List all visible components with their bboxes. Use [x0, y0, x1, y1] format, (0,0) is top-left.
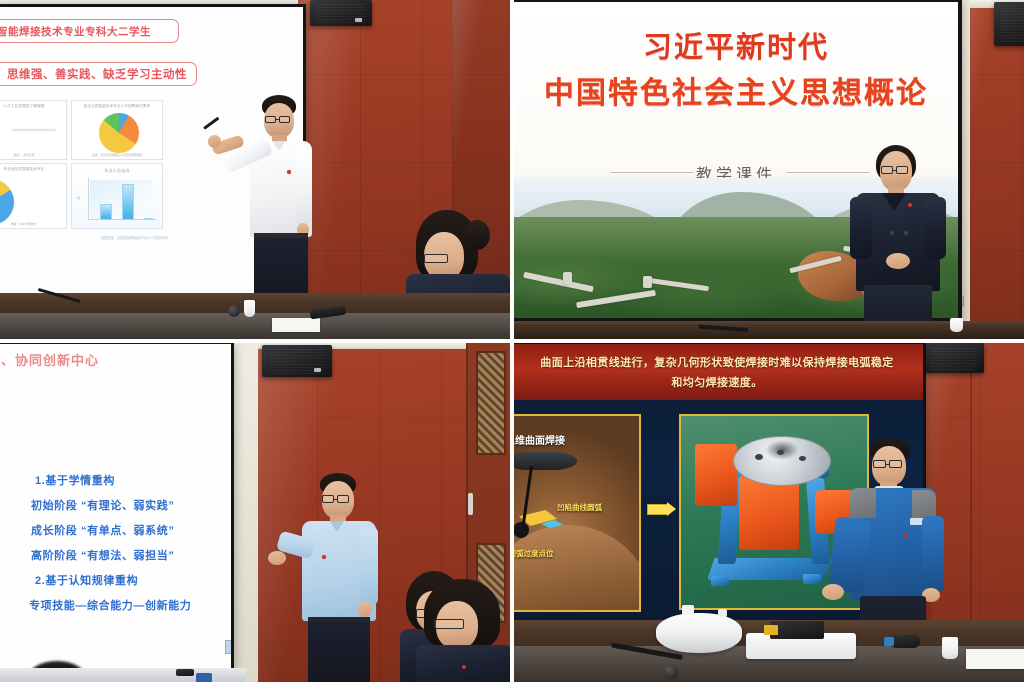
- bar-chart-trendline: [90, 180, 152, 218]
- slide4-photo-left: 三维曲面焊接 凹陷曲线圆弧 曲面弧过度点位: [514, 414, 641, 612]
- slide1-card-4: 毕业人员去向 人数: [71, 163, 163, 229]
- slide2-title-line2: 中国特色社会主义思想概论: [514, 68, 958, 112]
- presenter2-lapel-badge: [908, 203, 912, 207]
- panel-bottom-right[interactable]: 曲面上沿相贯线进行，复杂几何形状致使焊接时难以保持焊接电弧稳定 和均匀焊接速度。…: [514, 343, 1024, 682]
- presenter3-hand-right: [358, 601, 372, 617]
- presenter2-glasses-right: [896, 166, 908, 174]
- presenter3-hand-gesture: [268, 551, 286, 565]
- observer3b-top: [416, 645, 510, 682]
- slide1-card-2: 各企业的智能技术专业人才招聘岗位需求 来源：某某省智能制造人才需求调研报告: [71, 100, 163, 160]
- presenter4-lapel-badge: [904, 534, 908, 538]
- panel-bottom-left[interactable]: 、协同创新中心 1.基于学情重构 初始阶段 “有理论、弱实践” 成长阶段 “有单…: [0, 343, 510, 682]
- ceiling-speaker-panel2: [994, 2, 1024, 46]
- slide4-banner: 曲面上沿相贯线进行，复杂几何形状致使焊接时难以保持焊接电弧稳定 和均匀焊接速度。: [514, 344, 923, 400]
- presenter2-button-2: [904, 231, 908, 235]
- slide1-bar-chart: [88, 178, 156, 220]
- slide4-annotation-1: 凹陷曲线圆弧: [557, 502, 602, 513]
- slide3-line-5: 2.基于认知规律重构: [35, 572, 225, 588]
- ceiling-speaker-panel3: [262, 345, 332, 377]
- slide2-title-line1: 习近平新时代: [514, 24, 958, 66]
- documents-panel1[interactable]: [272, 318, 320, 332]
- presenter2-button-1: [890, 231, 894, 235]
- presenter4-glasses-left: [873, 460, 886, 468]
- slide1-card-1: 人才工业发展的了解程度 数据 — 调查结果: [0, 100, 67, 160]
- great-wall-tower-2: [643, 276, 652, 288]
- door-lattice-glass-panel3: [476, 351, 506, 455]
- panel-top-right[interactable]: 习近平新时代 中国特色社会主义思想概论 教学课件: [514, 0, 1024, 339]
- slide4-banner-line1: 曲面上沿相贯线进行，复杂几何形状致使焊接时难以保持焊接电弧稳定: [540, 354, 893, 370]
- presenter4-arm-right: [922, 516, 944, 592]
- presenter3-glasses-right: [337, 495, 349, 503]
- pressure-vessel-model[interactable]: [656, 613, 742, 653]
- presenter3-glasses-left: [322, 495, 334, 503]
- slide1-callout-2: 弱、思维强、善实践、缺乏学习主动性: [0, 62, 197, 86]
- slide1-card-2-caption: 来源：某某省智能制造人才需求调研报告: [72, 153, 162, 157]
- photo-collage: 智能焊接技术专业专科大二学生 弱、思维强、善实践、缺乏学习主动性 人才工业发展的…: [0, 0, 1024, 682]
- slide3-header: 、协同创新中心: [1, 350, 99, 369]
- chuck-hole-3: [799, 456, 806, 461]
- arrow-head: [667, 502, 676, 516]
- chuck-hole-1: [755, 454, 763, 460]
- speaker-grille-panel4: [931, 346, 977, 370]
- presenter1-glasses-bridge: [276, 119, 279, 120]
- slide1-card-1-caption: 数据 — 调查结果: [0, 153, 66, 157]
- presenter2-glasses-left: [881, 166, 893, 174]
- presenter1-belt: [254, 233, 308, 238]
- presenter1-collar: [272, 141, 286, 151]
- great-wall-tower-1: [563, 272, 572, 284]
- table-glass-panel1: [0, 313, 510, 339]
- slide1-card-3-caption: 数据：2024年度统计: [0, 222, 66, 226]
- cup-panel2[interactable]: [950, 318, 963, 332]
- positioner-foot-left: [711, 576, 729, 586]
- marker-panel3[interactable]: [176, 669, 194, 676]
- paper-cup-panel1[interactable]: [244, 300, 255, 317]
- handheld-device-panel4[interactable]: [890, 635, 920, 648]
- presenter1-lowered-arm: [296, 149, 312, 225]
- presenter3-collar: [330, 521, 344, 532]
- paper-cup-panel4[interactable]: [942, 637, 958, 659]
- slide4-photo-left-label: 三维曲面焊接: [514, 432, 565, 447]
- presenter2-hands-clasped: [886, 253, 910, 269]
- seated-observer-2-panel3: [418, 579, 510, 682]
- panel-top-left[interactable]: 智能焊接技术专业专科大二学生 弱、思维强、善实践、缺乏学习主动性 人才工业发展的…: [0, 0, 510, 339]
- table-panel2: [514, 321, 1024, 339]
- speaker-logo: [355, 18, 362, 22]
- slide4-transition-arrow: [647, 496, 681, 522]
- slide4-probe-knob: [514, 522, 529, 538]
- documents-panel4[interactable]: [966, 649, 1024, 669]
- presenter4-glasses-right: [889, 460, 902, 468]
- ceiling-speaker-panel4: [924, 343, 984, 373]
- slide3-line-6: 专项技能—综合能力—创新能力: [29, 597, 225, 613]
- observer1-glasses: [424, 254, 448, 263]
- presenter4-shoulder-grey-left: [850, 488, 876, 518]
- presenter-panel3: [292, 473, 402, 682]
- presenter4-hand-pointing: [822, 584, 844, 600]
- presenter3-glasses-bridge: [334, 499, 337, 500]
- presenter3-arm-right: [360, 527, 378, 605]
- slide3-line-1: 1.基于学情重构: [35, 472, 225, 488]
- slide1-card-1-mini-legend: [12, 129, 56, 131]
- slide1-card-3: 所在地区的智能技术专业 数据：2024年度统计: [0, 163, 67, 229]
- slide3-line-4: 高阶阶段 “有想法、弱担当”: [31, 547, 225, 563]
- slide3-line-2: 初始阶段 “有理论、弱实践”: [31, 497, 225, 513]
- slide4-banner-line2: 和均匀焊接速度。: [671, 374, 762, 390]
- positioner-body-center: [739, 476, 799, 550]
- blue-object-panel3[interactable]: [196, 673, 212, 682]
- observer3b-lapel-badge: [462, 665, 466, 669]
- positioner-foot-right: [803, 574, 821, 584]
- slide3-body-list: 1.基于学情重构 初始阶段 “有理论、弱实践” 成长阶段 “有单点、弱系统” 高…: [35, 472, 225, 613]
- presenter4-arm-pointing: [828, 516, 872, 593]
- tool-yellow-accent-panel4: [764, 625, 778, 635]
- slide1-callout-1: 智能焊接技术专业专科大二学生: [0, 19, 179, 43]
- ceiling-speaker: [310, 0, 372, 26]
- projection-screen-3[interactable]: 、协同创新中心 1.基于学情重构 初始阶段 “有理论、弱实践” 成长阶段 “有单…: [0, 343, 234, 671]
- slide1-pie-chart-secondary: [0, 179, 14, 225]
- slide1-footnote: 数据来源：全国智能焊接技术专业人才需求调研: [101, 235, 168, 240]
- slide1-card-1-title: 人才工业发展的了解程度: [0, 104, 66, 109]
- presenter3-belt: [308, 617, 370, 622]
- presenter3-lapel-badge: [322, 555, 326, 559]
- welding-tool-panel4[interactable]: [770, 621, 824, 639]
- presenter1-lapel-badge: [287, 170, 291, 174]
- presenter2-arm-left: [850, 197, 872, 259]
- presenter2-suit-collar: [882, 193, 906, 211]
- presenter1-hand: [208, 135, 221, 148]
- bar-chart-y-axis: [88, 178, 89, 220]
- positioner-motor-left: [695, 444, 737, 506]
- presenter1-glasses-left: [265, 116, 276, 123]
- presenter2-glasses-bridge: [893, 170, 896, 171]
- pressure-vessel-nozzle-1: [682, 605, 694, 615]
- presenter2-arm-right: [924, 197, 946, 259]
- slide1-pie-chart-main: [99, 113, 139, 153]
- bar-chart-ylabel: 人数: [75, 196, 80, 200]
- slide1-card-4-title: 毕业人员去向: [72, 168, 162, 174]
- screen3-wall-mount: [225, 640, 234, 654]
- microphone-head-panel1[interactable]: [228, 305, 240, 317]
- presenter-panel2: [852, 145, 954, 339]
- observer1-hair-bun: [464, 220, 490, 250]
- presenter1-glasses-right: [279, 116, 290, 123]
- slide4-annotation-2: 曲面弧过度点位: [514, 548, 554, 559]
- door-handle-panel3[interactable]: [468, 493, 473, 515]
- pressure-vessel-nozzle-2: [718, 609, 727, 617]
- slide1-card-3-title: 所在地区的智能技术专业: [0, 167, 66, 172]
- presenter3-trousers: [308, 619, 370, 682]
- arrow-shaft: [647, 504, 669, 515]
- presenter-panel1: [234, 95, 344, 310]
- bar-chart-bar-3: [144, 218, 153, 220]
- chuck-center-burst: [765, 440, 799, 460]
- slide1-card-2-title: 各企业的智能技术专业人才招聘岗位需求: [72, 104, 162, 109]
- slide4-workpiece-flange: [514, 452, 577, 470]
- microphone-head-panel4[interactable]: [664, 665, 678, 679]
- speaker-grille-panel2: [1000, 6, 1024, 41]
- device-blue-tip-panel4: [884, 637, 894, 646]
- observer3b-glasses: [434, 619, 464, 629]
- presenter4-glasses-bridge: [886, 464, 889, 465]
- speaker-logo-panel3: [314, 368, 321, 372]
- slide3-line-3: 成长阶段 “有单点、弱系统”: [31, 522, 225, 538]
